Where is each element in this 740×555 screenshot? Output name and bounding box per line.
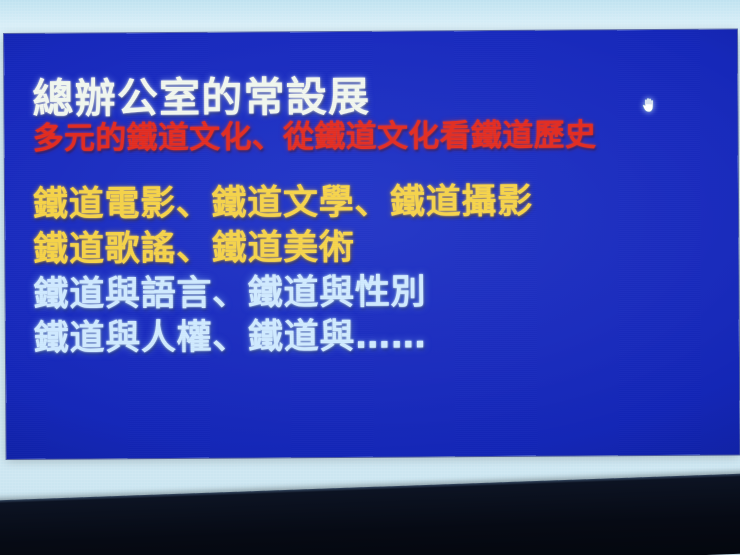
- slide-body-line-2: 鐵道歌謠、鐵道美術: [33, 223, 724, 272]
- slide-text-block: 總辦公室的常設展 多元的鐵道文化、從鐵道文化看鐵道歷史 鐵道電影、鐵道文學、鐵道…: [32, 74, 725, 362]
- slide-subtitle: 多元的鐵道文化、從鐵道文化看鐵道歷史: [33, 119, 724, 157]
- slide-body-line-3: 鐵道與語言、鐵道與性別: [33, 268, 724, 317]
- screenshot-root: 總辦公室的常設展 多元的鐵道文化、從鐵道文化看鐵道歷史 鐵道電影、鐵道文學、鐵道…: [0, 0, 740, 555]
- slide-body-line-1: 鐵道電影、鐵道文學、鐵道攝影: [33, 179, 724, 228]
- slide-body-line-4: 鐵道與人權、鐵道與……: [34, 313, 725, 362]
- projected-slide: 總辦公室的常設展 多元的鐵道文化、從鐵道文化看鐵道歷史 鐵道電影、鐵道文學、鐵道…: [4, 30, 740, 459]
- slide-title: 總辦公室的常設展: [32, 74, 723, 122]
